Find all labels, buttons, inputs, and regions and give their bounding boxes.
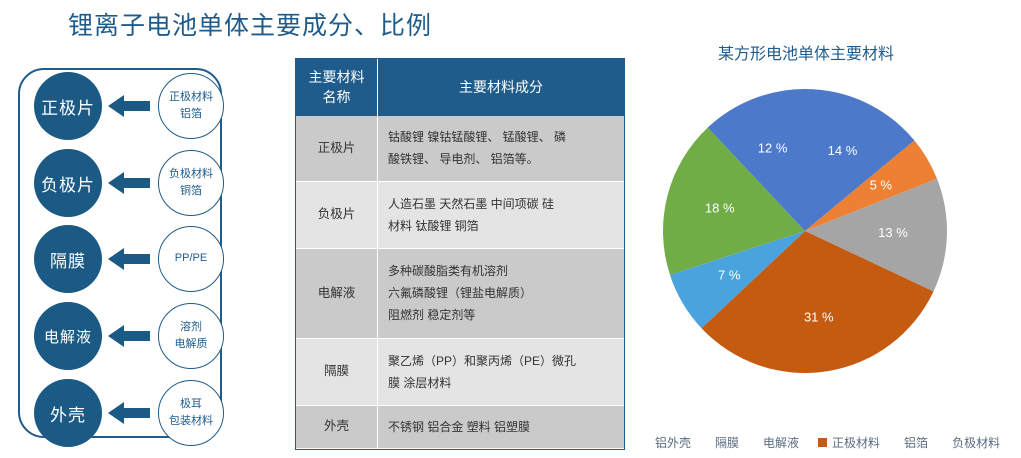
pie-slice-label: 13 % xyxy=(878,225,908,240)
composition-line: 六氟磷酸锂（锂盐电解质） xyxy=(388,282,614,304)
component-node-separator[interactable]: 隔膜 xyxy=(34,225,102,293)
legend-label: 铝箔 xyxy=(904,434,928,451)
component-node-label: 电解液 xyxy=(44,326,92,347)
legend-item[interactable]: 隔膜 xyxy=(710,434,739,451)
composition-line: 不锈钢 铝合金 塑料 铝塑膜 xyxy=(388,416,614,438)
pie-slice-label: 14 % xyxy=(828,143,858,158)
arrow-left-icon xyxy=(108,170,150,196)
chart-title: 某方形电池单体主要材料 xyxy=(636,40,976,64)
table-cell-composition: 人造石墨 天然石墨 中间项碳 硅 材料 钛酸锂 铜箔 xyxy=(378,182,625,248)
material-circle-anode[interactable]: 负极材料 铜箔 xyxy=(158,150,224,216)
table-cell-name: 外壳 xyxy=(296,405,378,448)
component-node-electrolyte[interactable]: 电解液 xyxy=(34,302,102,370)
slide-canvas: 锂离子电池单体主要成分、比例 正极片 负极片 隔膜 电解液 xyxy=(0,0,1021,458)
composition-line: 多种碳酸脂类有机溶剂 xyxy=(388,260,614,282)
legend-item[interactable]: 正极材料 xyxy=(818,434,880,451)
table-cell-name: 正极片 xyxy=(296,116,378,182)
component-node-label: 正极片 xyxy=(41,94,95,119)
material-line: PP/PE xyxy=(175,250,207,267)
table-row: 电解液 多种碳酸脂类有机溶剂 六氟磷酸锂（锂盐电解质） 阻燃剂 稳定剂等 xyxy=(296,248,624,339)
legend-label: 隔膜 xyxy=(715,434,739,451)
pie-chart: 14 %5 %13 %31 %7 %18 %12 % xyxy=(660,86,950,376)
arrow-left-icon xyxy=(108,400,150,426)
arrow-left-icon xyxy=(108,246,150,272)
table-header-row: 主要材料 名称 主要材料成分 xyxy=(296,59,624,116)
pie-slice-label: 12 % xyxy=(758,141,788,156)
material-line: 极耳 xyxy=(180,396,202,413)
pie-slice-label: 5 % xyxy=(870,178,893,193)
table-header-composition: 主要材料成分 xyxy=(378,59,625,116)
chart-legend: 铝外壳隔膜电解液正极材料铝箔负极材料 xyxy=(650,430,1021,454)
composition-line: 钴酸锂 镍钴锰酸锂、 锰酸锂、 磷 xyxy=(388,126,614,148)
materials-table: 主要材料 名称 主要材料成分 正极片 钴酸锂 镍钴锰酸锂、 锰酸锂、 磷 酸铁锂… xyxy=(296,59,624,449)
composition-line: 材料 钛酸锂 铜箔 xyxy=(388,215,614,237)
material-circle-electrolyte[interactable]: 溶剂 电解质 xyxy=(158,303,224,369)
material-line: 电解质 xyxy=(175,336,208,353)
pie-chart-panel: 某方形电池单体主要材料 14 %5 %13 %31 %7 %18 %12 % 铝… xyxy=(636,34,1021,458)
table-header-name-line2: 名称 xyxy=(300,87,373,107)
component-node-anode[interactable]: 负极片 xyxy=(34,149,102,217)
table-row: 外壳 不锈钢 铝合金 塑料 铝塑膜 xyxy=(296,405,624,448)
table-header-name-line1: 主要材料 xyxy=(300,67,373,87)
table-cell-composition: 多种碳酸脂类有机溶剂 六氟磷酸锂（锂盐电解质） 阻燃剂 稳定剂等 xyxy=(378,248,625,339)
component-node-label: 外壳 xyxy=(50,401,86,426)
table-cell-composition: 聚乙烯（PP）和聚丙烯（PE）微孔 膜 涂层材料 xyxy=(378,339,625,405)
material-circle-separator[interactable]: PP/PE xyxy=(158,226,224,292)
legend-item[interactable]: 铝外壳 xyxy=(650,434,691,451)
table-row: 正极片 钴酸锂 镍钴锰酸锂、 锰酸锂、 磷 酸铁锂、 导电剂、 铝箔等。 xyxy=(296,116,624,182)
material-circle-shell[interactable]: 极耳 包装材料 xyxy=(158,380,224,446)
material-line: 正极材料 xyxy=(169,89,213,106)
pie-slice-label: 7 % xyxy=(718,267,741,282)
composition-line: 酸铁锂、 导电剂、 铝箔等。 xyxy=(388,148,614,170)
table-cell-composition: 钴酸锂 镍钴锰酸锂、 锰酸锂、 磷 酸铁锂、 导电剂、 铝箔等。 xyxy=(378,116,625,182)
composition-line: 人造石墨 天然石墨 中间项碳 硅 xyxy=(388,193,614,215)
material-line: 铜箔 xyxy=(180,183,202,200)
table-cell-composition: 不锈钢 铝合金 塑料 铝塑膜 xyxy=(378,405,625,448)
composition-line: 膜 涂层材料 xyxy=(388,372,614,394)
composition-line: 阻燃剂 稳定剂等 xyxy=(388,304,614,326)
pie-slice-label: 31 % xyxy=(804,309,834,324)
battery-composition-diagram: 正极片 负极片 隔膜 电解液 外壳 正极材料 铝箔 负极材料 铜箔 PP/PE … xyxy=(8,58,263,450)
table-cell-name: 隔膜 xyxy=(296,339,378,405)
legend-item[interactable]: 负极材料 xyxy=(947,434,1000,451)
arrow-left-icon xyxy=(108,323,150,349)
legend-swatch xyxy=(818,438,827,447)
table-cell-name: 电解液 xyxy=(296,248,378,339)
material-line: 包装材料 xyxy=(169,413,213,430)
materials-table-container: 主要材料 名称 主要材料成分 正极片 钴酸锂 镍钴锰酸锂、 锰酸锂、 磷 酸铁锂… xyxy=(295,58,625,450)
component-node-shell[interactable]: 外壳 xyxy=(34,379,102,447)
page-title: 锂离子电池单体主要成分、比例 xyxy=(68,6,432,42)
legend-label: 电解液 xyxy=(763,434,799,451)
legend-label: 铝外壳 xyxy=(655,434,691,451)
component-node-label: 隔膜 xyxy=(50,247,86,272)
legend-label: 正极材料 xyxy=(832,434,880,451)
component-node-cathode[interactable]: 正极片 xyxy=(34,72,102,140)
table-row: 负极片 人造石墨 天然石墨 中间项碳 硅 材料 钛酸锂 铜箔 xyxy=(296,182,624,248)
material-line: 溶剂 xyxy=(180,319,202,336)
table-cell-name: 负极片 xyxy=(296,182,378,248)
table-header-name: 主要材料 名称 xyxy=(296,59,378,116)
material-line: 铝箔 xyxy=(180,106,202,123)
component-node-label: 负极片 xyxy=(41,171,95,196)
material-circle-cathode[interactable]: 正极材料 铝箔 xyxy=(158,73,224,139)
composition-line: 聚乙烯（PP）和聚丙烯（PE）微孔 xyxy=(388,350,614,372)
table-row: 隔膜 聚乙烯（PP）和聚丙烯（PE）微孔 膜 涂层材料 xyxy=(296,339,624,405)
material-line: 负极材料 xyxy=(169,166,213,183)
legend-label: 负极材料 xyxy=(952,434,1000,451)
arrow-left-icon xyxy=(108,93,150,119)
legend-item[interactable]: 铝箔 xyxy=(899,434,928,451)
pie-slice-label: 18 % xyxy=(705,201,735,216)
legend-item[interactable]: 电解液 xyxy=(758,434,799,451)
